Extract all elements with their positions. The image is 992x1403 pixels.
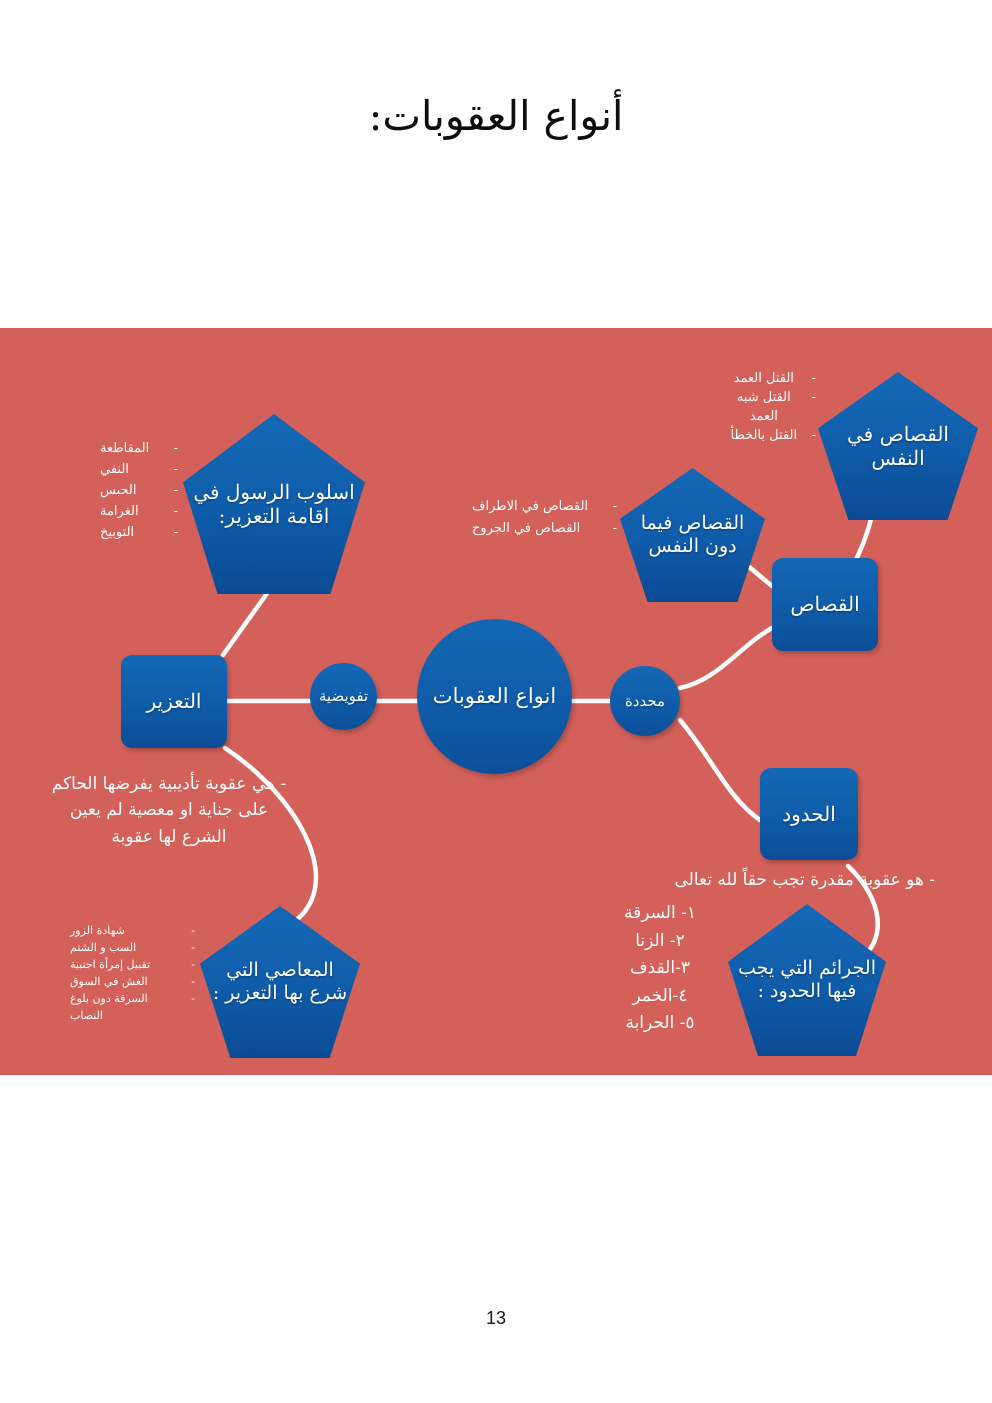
node-qisas[interactable]: القصاص [772,558,878,651]
page-title: أنواع العقوبات: [0,92,992,140]
list-item: ١- السرقة [600,900,720,928]
node-tafwidiya[interactable]: تفويضية [310,663,377,730]
bullet-dash: - [613,518,617,540]
list-jaraim-hudud: ١- السرقة ٢- الزنا ٣-القذف ٤-الخمر ٥- ال… [600,900,720,1038]
bullet-dash: - [812,389,816,408]
list-item: -القتل العمد [730,370,816,389]
list-item: -القصاص في الاطراف [472,496,617,518]
list-item: -تقبيل إمرأة اجنبية [70,956,195,973]
bullets-qisas-doon-nafs: -القصاص في الاطراف -القصاص في الجروح [472,496,617,541]
node-hudud[interactable]: الحدود [760,768,858,860]
bullet-dash: - [613,496,617,518]
bullet-dash: - [174,480,178,501]
node-taazir[interactable]: التعزير [121,655,227,748]
bullet-dash: - [174,459,178,480]
bullet-dash: - [191,990,195,1007]
node-tafwidiya-label: تفويضية [319,687,368,705]
list-item: -شهادة الزور [70,922,195,939]
list-item: ٣-القذف [600,955,720,983]
bullet-dash: - [174,438,178,459]
pentagon-jaraim-hudud-label: الجرائم التي يجب فيها الحدود : [736,957,878,1003]
list-item: ٢- الزنا [600,928,720,956]
link-muhaddada-hudud [680,720,760,820]
list-item: -الغش في السوق [70,973,195,990]
node-hudud-label: الحدود [782,802,836,826]
bullet-dash: - [191,956,195,973]
list-item: -المقاطعة [100,438,178,459]
list-item: ٥- الحرابة [600,1010,720,1038]
hudud-definition: - هو عقوبة مقدرة تجب حقاً لله تعالى [605,870,935,890]
pentagon-qisas-nafs-label: القصاص في النفس [826,422,970,471]
bullets-qisas-nafs: -القتل العمد -القتل شبه العمد -القتل بال… [730,370,816,445]
list-item: -الحبس [100,480,178,501]
pentagon-taazir-method-label: اسلوب الرسول في اقامة التعزير: [191,480,357,529]
bullet-dash: - [191,922,195,939]
node-qisas-label: القصاص [790,592,859,616]
node-center-label: انواع العقوبات [433,684,556,710]
node-taazir-label: التعزير [147,689,202,713]
taazir-definition: - هي عقوبة تأديبية يفرضها الحاكم على جنا… [45,771,293,850]
diagram-canvas: انواع العقوبات تفويضية محددة التعزير الق… [0,328,992,1075]
page-root: أنواع العقوبات: [0,0,992,1403]
bullets-maasi: -شهادة الزور -السب و الشتم -تقبيل إمرأة … [70,922,195,1024]
bullet-dash: - [812,370,816,389]
pentagon-qisas-doon-nafs-label: القصاص فيما دون النفس [628,512,757,558]
bullet-dash: - [191,973,195,990]
link-taazir-method [223,592,268,655]
list-item: -السرقة دون بلوغ النصاب [70,990,195,1024]
bullet-dash: - [174,501,178,522]
list-item: -التوبيخ [100,522,178,543]
bullet-dash: - [191,939,195,956]
list-item: -القصاص في الجروح [472,518,617,540]
node-muhaddada-label: محددة [625,692,665,710]
node-muhaddada[interactable]: محددة [610,666,680,736]
list-item: -السب و الشتم [70,939,195,956]
list-item: -النفي [100,459,178,480]
list-item: -القتل شبه العمد [730,389,816,427]
bullet-dash: - [174,522,178,543]
bullet-dash: - [812,427,816,446]
list-item: -الغرامة [100,501,178,522]
list-item: -القتل بالخطأ [730,427,816,446]
link-muhaddada-qisas [680,628,772,688]
page-number: 13 [0,1308,992,1329]
bullets-taazir-method: -المقاطعة -النفي -الحبس -الغرامة -التوبي… [100,438,178,543]
list-item: ٤-الخمر [600,983,720,1011]
pentagon-maasi-label: المعاصي التي شرع بها التعزير : [208,959,352,1005]
node-center[interactable]: انواع العقوبات [417,619,572,774]
